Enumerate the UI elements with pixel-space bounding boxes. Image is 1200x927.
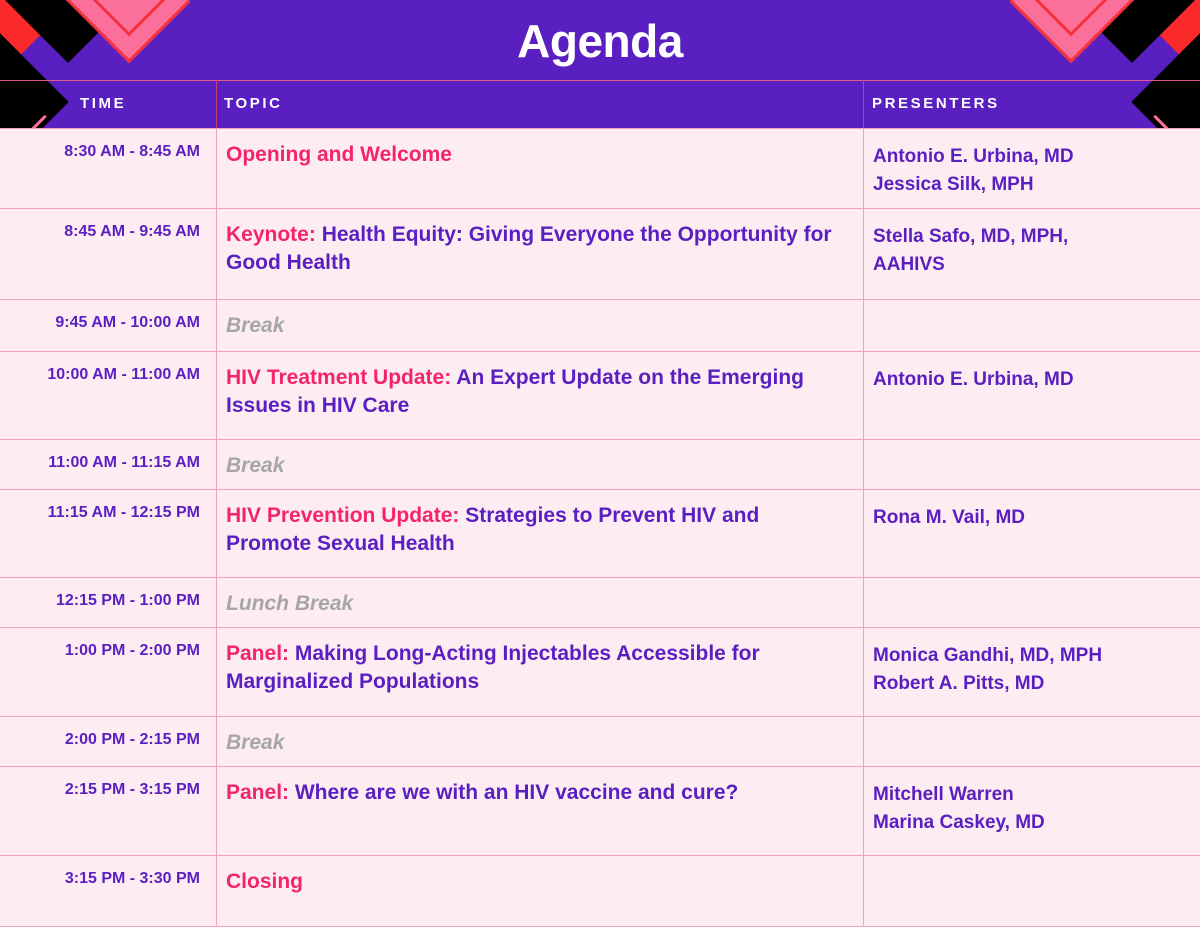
cell-time: 9:45 AM - 10:00 AM — [0, 300, 216, 351]
cell-time: 2:00 PM - 2:15 PM — [0, 717, 216, 766]
topic-highlight: HIV Prevention Update: — [226, 504, 459, 527]
topic-text: Health Equity: Giving Everyone the Oppor… — [226, 223, 832, 274]
cell-time: 11:15 AM - 12:15 PM — [0, 490, 216, 577]
table-row: 8:30 AM - 8:45 AMOpening and WelcomeAnto… — [0, 128, 1200, 209]
topic-highlight: Panel: — [226, 781, 289, 804]
cell-presenters: Monica Gandhi, MD, MPHRobert A. Pitts, M… — [863, 628, 1200, 716]
presenter-name: Mitchell Warren — [873, 781, 1190, 809]
presenter-name: Antonio E. Urbina, MD — [873, 366, 1190, 394]
topic-highlight: Closing — [226, 870, 303, 893]
cell-presenters: Mitchell WarrenMarina Caskey, MD — [863, 767, 1200, 855]
presenter-name: Marina Caskey, MD — [873, 809, 1190, 837]
cell-presenters — [863, 856, 1200, 926]
table-row: 10:00 AM - 11:00 AMHIV Treatment Update:… — [0, 352, 1200, 440]
cell-presenters — [863, 440, 1200, 489]
column-header-topic: TOPIC — [224, 80, 283, 128]
agenda-page: Agenda TIME TOPIC PRESENTERS 8:30 AM - 8… — [0, 0, 1200, 927]
header-band: Agenda TIME TOPIC PRESENTERS — [0, 0, 1200, 128]
cell-time: 8:30 AM - 8:45 AM — [0, 129, 216, 208]
table-row: 2:15 PM - 3:15 PMPanel: Where are we wit… — [0, 767, 1200, 856]
header-column-divider-2 — [863, 80, 864, 128]
cell-topic: Break — [216, 717, 863, 766]
cell-time: 1:00 PM - 2:00 PM — [0, 628, 216, 716]
cell-topic: Panel: Where are we with an HIV vaccine … — [216, 767, 863, 855]
cell-presenters: Antonio E. Urbina, MDJessica Silk, MPH — [863, 129, 1200, 208]
table-row: 11:15 AM - 12:15 PMHIV Prevention Update… — [0, 490, 1200, 578]
cell-topic: Keynote: Health Equity: Giving Everyone … — [216, 209, 863, 299]
cell-time: 11:00 AM - 11:15 AM — [0, 440, 216, 489]
column-header-presenters: PRESENTERS — [872, 80, 1000, 128]
break-label: Lunch Break — [226, 592, 353, 615]
cell-topic: Break — [216, 300, 863, 351]
cell-topic: Closing — [216, 856, 863, 926]
cell-time: 8:45 AM - 9:45 AM — [0, 209, 216, 299]
cell-topic: Break — [216, 440, 863, 489]
table-row: 1:00 PM - 2:00 PMPanel: Making Long-Acti… — [0, 628, 1200, 717]
topic-text: Making Long-Acting Injectables Accessibl… — [226, 642, 760, 693]
cell-topic: Opening and Welcome — [216, 129, 863, 208]
break-label: Break — [226, 731, 284, 754]
page-title: Agenda — [0, 10, 1200, 72]
header-divider-line — [0, 80, 1200, 81]
table-row: 2:00 PM - 2:15 PMBreak — [0, 717, 1200, 767]
cell-presenters — [863, 717, 1200, 766]
table-row: 11:00 AM - 11:15 AMBreak — [0, 440, 1200, 490]
table-row: 3:15 PM - 3:30 PMClosing — [0, 856, 1200, 927]
cell-time: 3:15 PM - 3:30 PM — [0, 856, 216, 926]
table-row: 9:45 AM - 10:00 AMBreak — [0, 300, 1200, 352]
cell-presenters: Antonio E. Urbina, MD — [863, 352, 1200, 439]
presenter-name: Stella Safo, MD, MPH, — [873, 223, 1190, 251]
break-label: Break — [226, 454, 284, 477]
topic-highlight: Opening and Welcome — [226, 143, 452, 166]
column-header-time: TIME — [80, 80, 126, 128]
agenda-table: 8:30 AM - 8:45 AMOpening and WelcomeAnto… — [0, 128, 1200, 927]
presenter-name: Rona M. Vail, MD — [873, 504, 1190, 532]
break-label: Break — [226, 314, 284, 337]
topic-highlight: Keynote: — [226, 223, 316, 246]
presenter-name: Monica Gandhi, MD, MPH — [873, 642, 1190, 670]
topic-highlight: HIV Treatment Update: — [226, 366, 451, 389]
presenter-name: Antonio E. Urbina, MD — [873, 143, 1190, 171]
cell-topic: Lunch Break — [216, 578, 863, 627]
cell-presenters — [863, 578, 1200, 627]
cell-presenters: Stella Safo, MD, MPH,AAHIVS — [863, 209, 1200, 299]
cell-topic: HIV Prevention Update: Strategies to Pre… — [216, 490, 863, 577]
topic-highlight: Panel: — [226, 642, 289, 665]
cell-time: 10:00 AM - 11:00 AM — [0, 352, 216, 439]
presenter-name: AAHIVS — [873, 251, 1190, 279]
cell-topic: HIV Treatment Update: An Expert Update o… — [216, 352, 863, 439]
presenter-name: Robert A. Pitts, MD — [873, 670, 1190, 698]
cell-presenters: Rona M. Vail, MD — [863, 490, 1200, 577]
cell-time: 2:15 PM - 3:15 PM — [0, 767, 216, 855]
cell-presenters — [863, 300, 1200, 351]
cell-topic: Panel: Making Long-Acting Injectables Ac… — [216, 628, 863, 716]
topic-text: Where are we with an HIV vaccine and cur… — [289, 781, 738, 804]
presenter-name: Jessica Silk, MPH — [873, 171, 1190, 199]
table-row: 12:15 PM - 1:00 PMLunch Break — [0, 578, 1200, 628]
table-row: 8:45 AM - 9:45 AMKeynote: Health Equity:… — [0, 209, 1200, 300]
cell-time: 12:15 PM - 1:00 PM — [0, 578, 216, 627]
header-column-divider-1 — [216, 80, 217, 128]
